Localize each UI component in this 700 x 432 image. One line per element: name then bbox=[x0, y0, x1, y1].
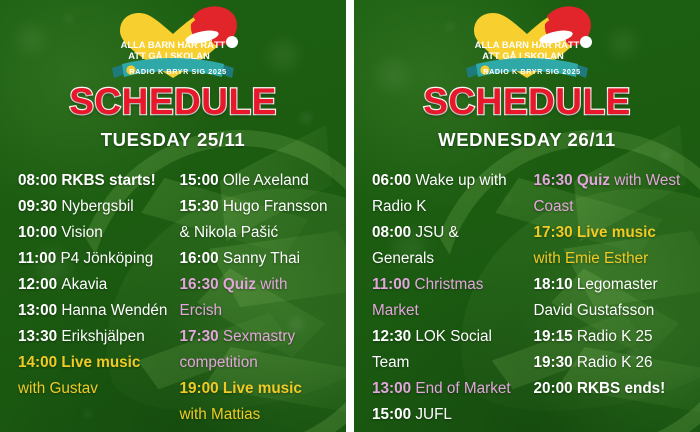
schedule-columns: 06:00 Wake up with Radio K08:00 JSU & Ge… bbox=[354, 168, 700, 432]
schedule-entry: 15:00 JUFL bbox=[372, 402, 525, 428]
bokeh-dot bbox=[660, 150, 671, 161]
panel-wednesday: ALLA BARN HAR RÄTT ATT GÅ I SKOLAN RADIO… bbox=[354, 0, 700, 432]
panel-tuesday: ALLA BARN HAR RÄTT ATT GÅ I SKOLAN RADIO… bbox=[0, 0, 346, 432]
schedule-entry: 19:30 Radio K 26 bbox=[534, 350, 687, 376]
schedule-entry: 11:00 P4 Jönköping bbox=[18, 246, 171, 272]
schedule-entry: 19:15 Radio K 25 bbox=[534, 324, 687, 350]
schedule-entry: 09:30 Nybergsbil bbox=[18, 194, 171, 220]
schedule-entry: 13:00 Hanna Wendén bbox=[18, 298, 171, 324]
entry-name: RKBS ends! bbox=[577, 380, 665, 397]
entry-time: 13:00 bbox=[372, 380, 415, 397]
entry-name: Erikshjälpen bbox=[61, 328, 144, 345]
schedule-entry: 16:00 Sanny Thai bbox=[180, 246, 333, 272]
schedule-entry: 17:30 Sexmastry competition bbox=[180, 324, 333, 376]
schedule-column-right: 15:00 Olle Axeland15:30 Hugo Fransson & … bbox=[175, 168, 333, 428]
entry-time: 08:00 bbox=[18, 172, 61, 189]
page-title: SCHEDULE bbox=[0, 83, 346, 120]
schedule-columns: 08:00 RKBS starts!09:30 Nybergsbil10:00 … bbox=[0, 168, 346, 428]
schedule-entry: 08:00 JSU & Generals bbox=[372, 220, 525, 272]
entry-name: RKBS starts! bbox=[61, 172, 155, 189]
entry-time: 18:10 bbox=[534, 276, 577, 293]
schedule-entry: 12:30 LOK Social Team bbox=[372, 324, 525, 376]
entry-name: Live music bbox=[223, 380, 302, 397]
entry-name: Akavia bbox=[61, 276, 107, 293]
entry-name: Quiz bbox=[577, 172, 610, 189]
entry-time: 12:00 bbox=[18, 276, 61, 293]
entry-time: 19:15 bbox=[534, 328, 577, 345]
entry-suffix: with Mattias bbox=[180, 406, 261, 423]
entry-name: End of Market bbox=[415, 380, 510, 397]
entry-name: Vision bbox=[61, 224, 102, 241]
entry-time: 15:30 bbox=[180, 198, 223, 215]
entry-time: 08:00 bbox=[372, 224, 415, 241]
schedule-column-left: 08:00 RKBS starts!09:30 Nybergsbil10:00 … bbox=[18, 168, 175, 428]
entry-time: 16:30 bbox=[534, 172, 577, 189]
entry-time: 17:30 bbox=[180, 328, 223, 345]
schedule-entry: 19:00 Live music with Mattias bbox=[180, 376, 333, 428]
page-title: SCHEDULE bbox=[354, 83, 700, 120]
entry-time: 16:00 bbox=[180, 250, 223, 267]
entry-time: 15:00 bbox=[372, 406, 415, 423]
schedule-entry: 20:00 RKBS ends! bbox=[534, 376, 687, 402]
entry-time: 14:00 bbox=[18, 354, 61, 371]
logo-banner-text: RADIO K BRYR SIG 2025 bbox=[483, 67, 580, 76]
schedule-entry: 06:00 Wake up with Radio K bbox=[372, 168, 525, 220]
entry-time: 19:30 bbox=[534, 354, 577, 371]
schedule-column-left: 06:00 Wake up with Radio K08:00 JSU & Ge… bbox=[372, 168, 529, 432]
entry-name: Live music bbox=[61, 354, 140, 371]
entry-name: Radio K 25 bbox=[577, 328, 653, 345]
page-subtitle: WEDNESDAY 26/11 bbox=[354, 129, 700, 151]
schedule-entry: 08:00 RKBS starts! bbox=[18, 168, 171, 194]
entry-time: 10:00 bbox=[18, 224, 61, 241]
entry-time: 11:00 bbox=[18, 250, 61, 267]
entry-suffix: with Emie Esther bbox=[534, 250, 649, 267]
schedule-entry: 14:00 Live music with Gustav bbox=[18, 350, 171, 402]
entry-name: P4 Jönköping bbox=[61, 250, 154, 267]
logo-heart-line1: ALLA BARN HAR RÄTT bbox=[475, 39, 580, 50]
schedule-entry: 10:00 Vision bbox=[18, 220, 171, 246]
entry-name: JUFL bbox=[415, 406, 452, 423]
schedule-entry: 15:00 Olle Axeland bbox=[180, 168, 333, 194]
entry-name: Olle Axeland bbox=[223, 172, 309, 189]
entry-name: Radio K 26 bbox=[577, 354, 653, 371]
entry-time: 20:00 bbox=[534, 380, 577, 397]
entry-name: Quiz bbox=[223, 276, 256, 293]
entry-time: 12:30 bbox=[372, 328, 415, 345]
entry-suffix: with Gustav bbox=[18, 380, 98, 397]
entry-name: Live music bbox=[577, 224, 656, 241]
schedule-column-right: 16:30 Quiz with West Coast17:30 Live mus… bbox=[529, 168, 687, 432]
entry-time: 15:00 bbox=[180, 172, 223, 189]
entry-time: 13:00 bbox=[18, 302, 61, 319]
logo-wrapper: ALLA BARN HAR RÄTT ATT GÅ I SKOLAN RADIO… bbox=[354, 0, 700, 86]
entry-time: 16:30 bbox=[180, 276, 223, 293]
entry-time: 06:00 bbox=[372, 172, 415, 189]
page-subtitle: TUESDAY 25/11 bbox=[0, 129, 346, 151]
schedule-entry: 18:10 Legomaster David Gustafsson bbox=[534, 272, 687, 324]
schedule-entry: 13:30 Erikshjälpen bbox=[18, 324, 171, 350]
schedule-entry: 12:00 Akavia bbox=[18, 272, 171, 298]
panel-divider bbox=[346, 0, 354, 432]
entry-time: 09:30 bbox=[18, 198, 61, 215]
schedule-entry: 13:00 End of Market bbox=[372, 376, 525, 402]
schedule-entry: 16:30 Quiz with West Coast bbox=[534, 168, 687, 220]
entry-name: Hanna Wendén bbox=[61, 302, 167, 319]
entry-time: 13:30 bbox=[18, 328, 61, 345]
logo-heart-line1: ALLA BARN HAR RÄTT bbox=[121, 39, 226, 50]
logo-banner-text: RADIO K BRYR SIG 2025 bbox=[129, 67, 226, 76]
entry-name: Nybergsbil bbox=[61, 198, 133, 215]
schedule-entry: 17:30 Live music with Emie Esther bbox=[534, 220, 687, 272]
radio-k-heart-logo-icon: ALLA BARN HAR RÄTT ATT GÅ I SKOLAN RADIO… bbox=[452, 6, 602, 86]
schedule-entry: 11:00 Christmas Market bbox=[372, 272, 525, 324]
entry-time: 11:00 bbox=[372, 276, 415, 293]
radio-k-heart-logo-icon: ALLA BARN HAR RÄTT ATT GÅ I SKOLAN RADIO… bbox=[98, 6, 248, 86]
entry-name: Sanny Thai bbox=[223, 250, 300, 267]
logo-wrapper: ALLA BARN HAR RÄTT ATT GÅ I SKOLAN RADIO… bbox=[0, 0, 346, 86]
entry-time: 17:30 bbox=[534, 224, 577, 241]
schedule-poster-pair: ALLA BARN HAR RÄTT ATT GÅ I SKOLAN RADIO… bbox=[0, 0, 700, 432]
schedule-entry: 16:30 Quiz with Ercish bbox=[180, 272, 333, 324]
entry-time: 19:00 bbox=[180, 380, 223, 397]
schedule-entry: 15:30 Hugo Fransson & Nikola Pašić bbox=[180, 194, 333, 246]
schedule-entry: 15:30 Tuva Kjellson bbox=[372, 428, 525, 432]
